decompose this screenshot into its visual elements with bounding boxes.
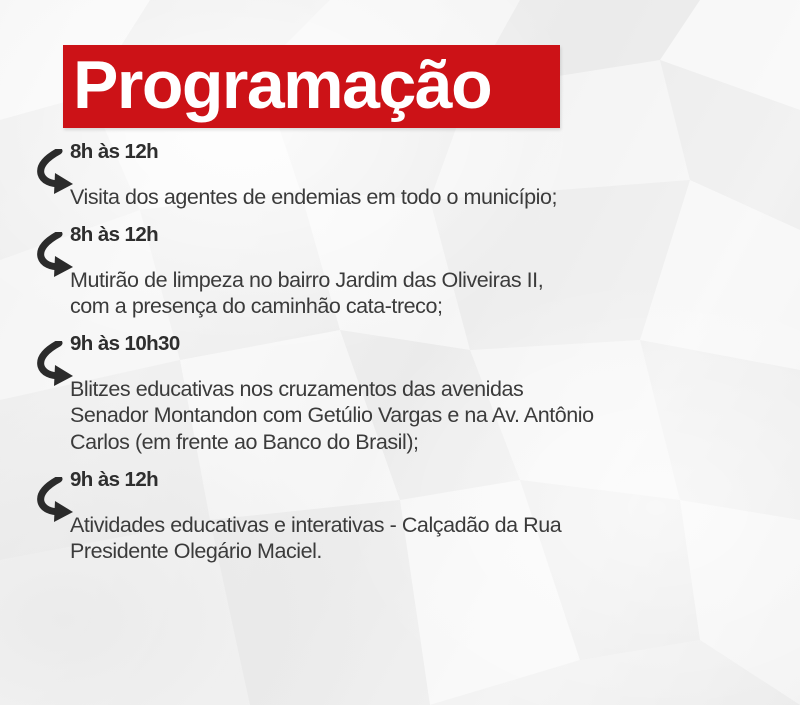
curved-arrow-icon [33,341,75,389]
schedule-item-description: Visita dos agentes de endemias em todo o… [70,184,784,210]
schedule-item: 9h às 10h30 Blitzes educativas nos cruza… [0,332,800,455]
title-banner: Programação [63,45,560,128]
schedule-item-time: 9h às 10h30 [70,332,784,356]
schedule-item: 9h às 12h Atividades educativas e intera… [0,468,800,564]
curved-arrow-icon [33,477,75,525]
schedule-item-time: 9h às 12h [70,468,784,492]
schedule-item-time: 8h às 12h [70,140,784,164]
schedule-item-description: Atividades educativas e interativas - Ca… [70,512,784,565]
schedule-item: 8h às 12h Visita dos agentes de endemias… [0,140,800,210]
curved-arrow-icon [33,149,75,197]
schedule-item-description: Mutirão de limpeza no bairro Jardim das … [70,267,784,320]
programacao-poster: Programação 8h às 12h Visita dos agentes… [0,0,800,705]
schedule-item-time: 8h às 12h [70,223,784,247]
curved-arrow-icon [33,232,75,280]
schedule-item-description: Blitzes educativas nos cruzamentos das a… [70,376,784,455]
schedule-list: 8h às 12h Visita dos agentes de endemias… [0,140,800,578]
page-title: Programação [63,51,491,119]
schedule-item: 8h às 12h Mutirão de limpeza no bairro J… [0,223,800,319]
